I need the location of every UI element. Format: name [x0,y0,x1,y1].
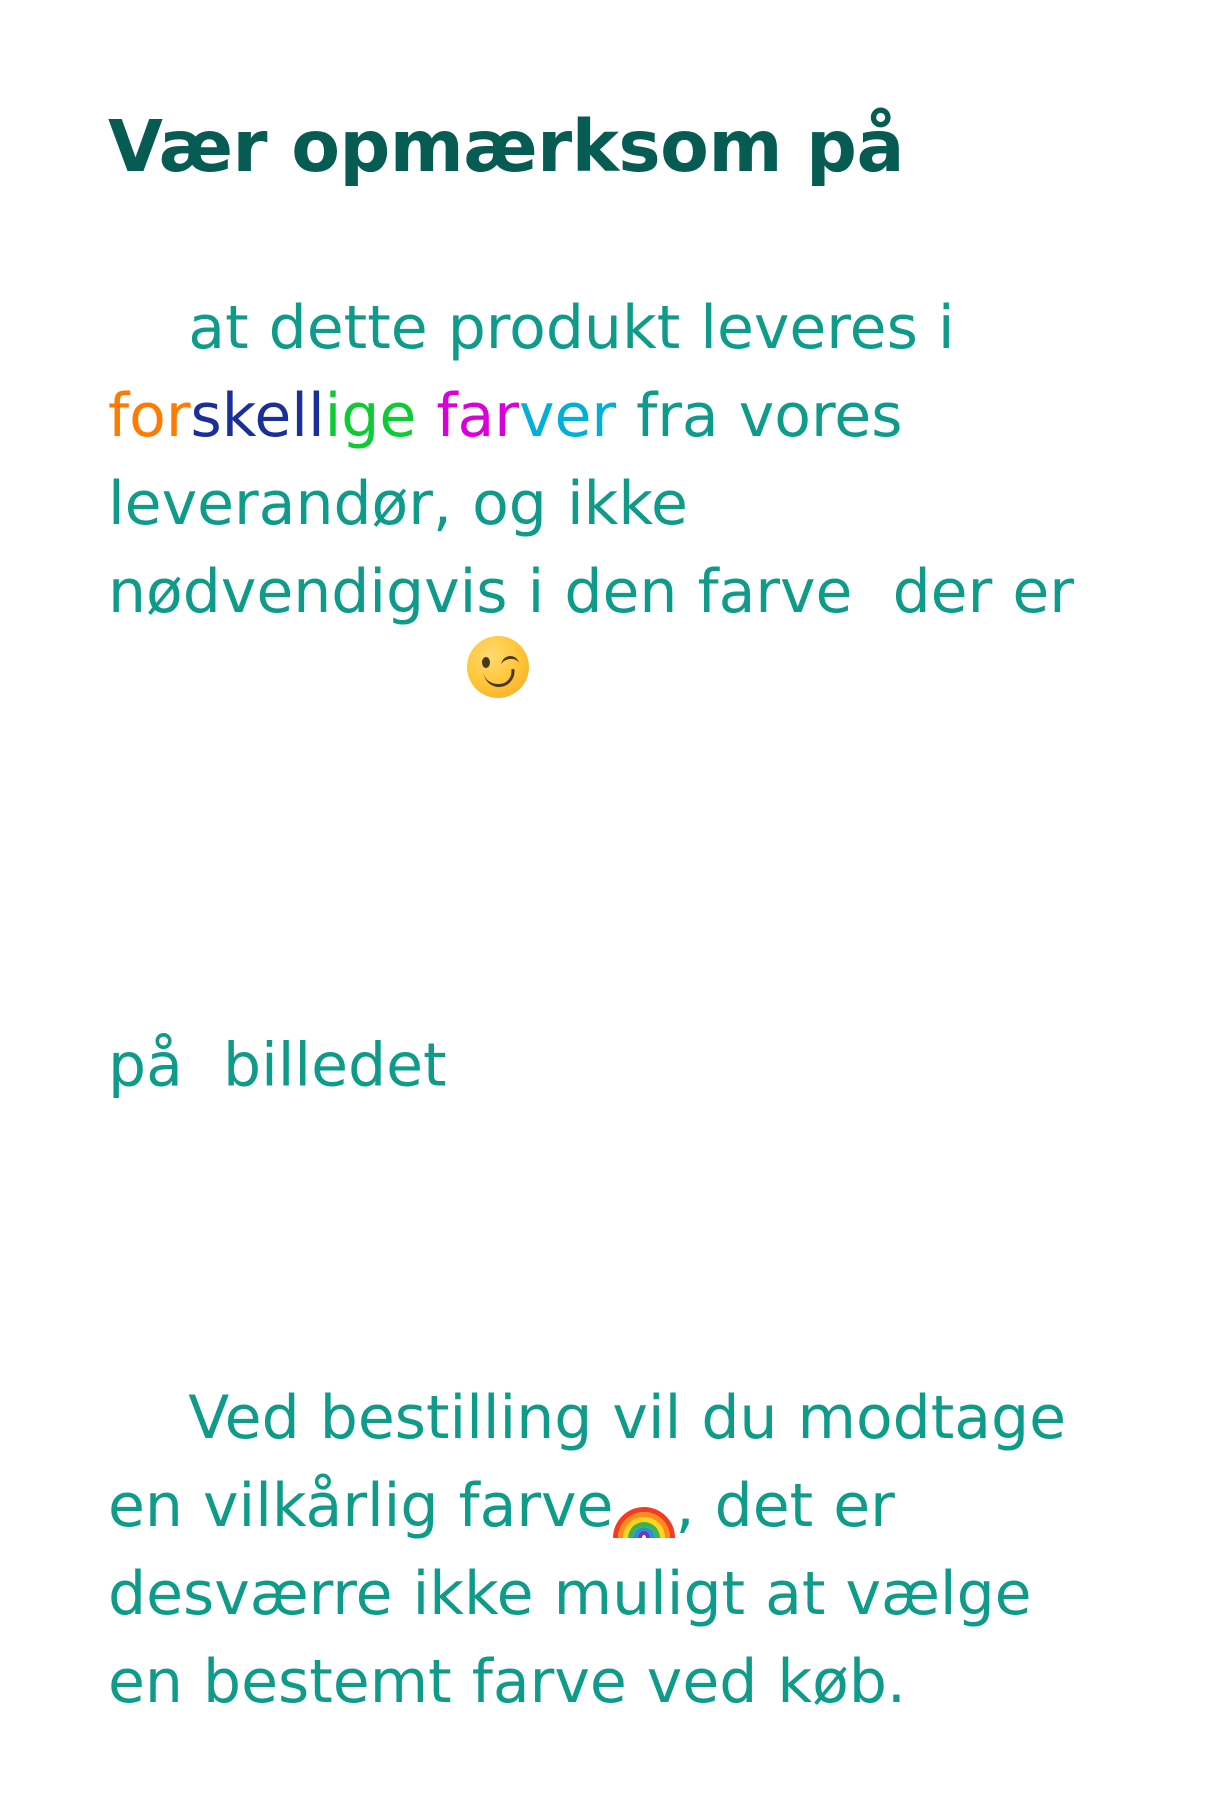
color-disclaimer-notice: Vær opmærksom på at dette produkt levere… [0,0,1214,1214]
page-title: Vær opmærksom på [108,104,1174,190]
emoji-mouth [483,669,515,688]
rainbow-emoji [613,1486,675,1546]
disclaimer-paragraph-1: at dette produkt leveres i forskellige f… [108,196,1174,1198]
colored-word-part-for: for [108,381,191,451]
colored-word-part-far: far [436,381,519,451]
disclaimer-paragraph-2: Ved bestilling vil du modtage en vilkårl… [108,1286,1174,1814]
paragraph2-lead-text: Ved bestilling vil du modtage en vilkårl… [108,1383,1066,1541]
winking-face-emoji [467,636,529,1106]
paragraph1-lead-text: at dette produkt leveres i [188,293,954,363]
emoji-eye-open [482,657,490,668]
colored-word-part-ver: ver [519,381,616,451]
rainbow-band-purple [638,1531,650,1538]
colored-word-part-ige: ige [325,381,417,451]
colored-word-space [416,381,436,451]
emoji-eye-wink [500,655,519,669]
paragraph-spacer [108,1198,1174,1286]
colored-word-part-skell: skell [191,381,325,451]
